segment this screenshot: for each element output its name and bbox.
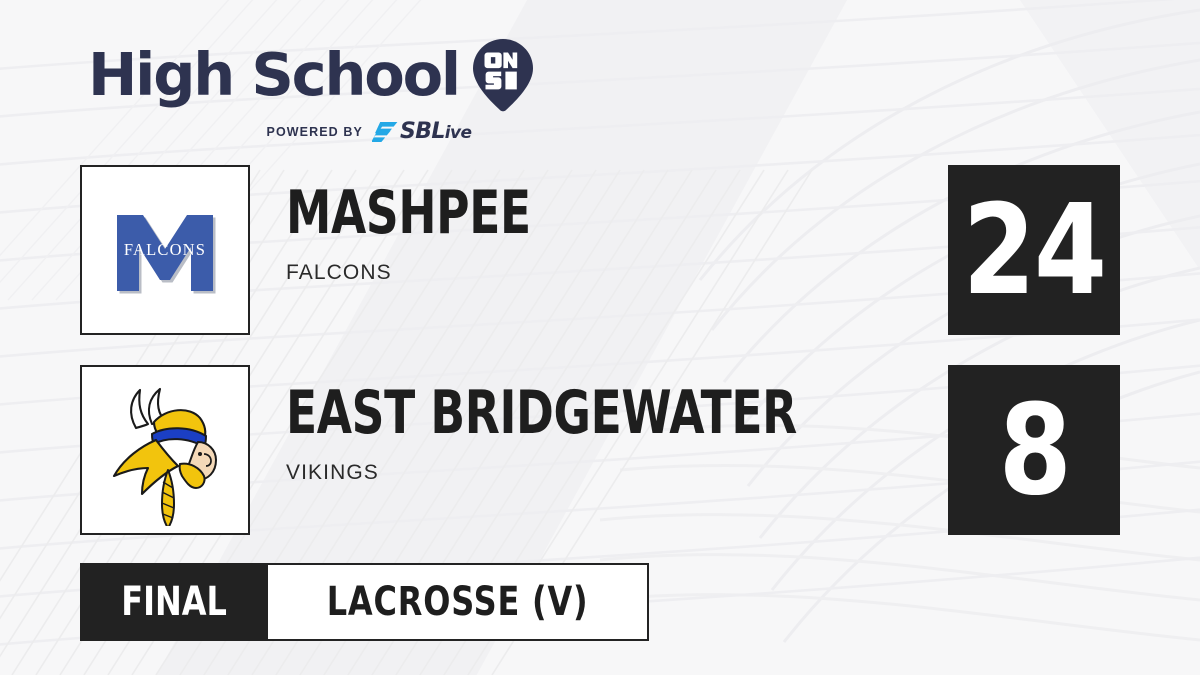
sblive-s-mark-icon: [372, 122, 398, 142]
scoreboard-graphic: High School POWERED BY: [0, 0, 1200, 675]
team-info: MASHPEE FALCONS: [286, 183, 608, 285]
team-name: EAST BRIDGEWATER: [286, 383, 797, 443]
team-mascot: VIKINGS: [286, 461, 958, 485]
sport-label-box: LACROSSE (V): [268, 563, 649, 641]
game-status-badge: FINAL: [80, 563, 268, 641]
game-status-label: FINAL: [121, 582, 227, 622]
team-mascot: FALCONS: [286, 261, 608, 285]
on-si-pin-icon: [472, 38, 534, 112]
team-score: 24: [963, 188, 1106, 313]
team-info: EAST BRIDGEWATER VIKINGS: [286, 383, 958, 485]
team-logo-box: FALCONS: [80, 165, 250, 335]
team-score-box: 8: [948, 365, 1120, 535]
sblive-logo: SBLive: [372, 121, 471, 143]
team-name: MASHPEE: [286, 183, 531, 243]
powered-by-row: POWERED BY SBLive: [88, 121, 534, 143]
game-status-bar: FINAL LACROSSE (V): [80, 563, 649, 641]
mashpee-logo-wordmark: FALCONS: [124, 240, 206, 259]
powered-by-label: POWERED BY: [267, 125, 363, 139]
team-logo-box: [80, 365, 250, 535]
team-score: 8: [998, 388, 1069, 513]
sblive-wordmark: SBLive: [400, 121, 471, 143]
sport-label: LACROSSE (V): [327, 582, 589, 622]
team-score-box: 24: [948, 165, 1120, 335]
page-title: High School: [88, 45, 459, 104]
brand-header: High School POWERED BY: [88, 36, 534, 143]
east-bridgewater-viking-head-logo-icon: [89, 374, 241, 526]
mashpee-m-falcons-logo-icon: FALCONS: [90, 175, 240, 325]
brand-title-row: High School: [88, 36, 534, 112]
